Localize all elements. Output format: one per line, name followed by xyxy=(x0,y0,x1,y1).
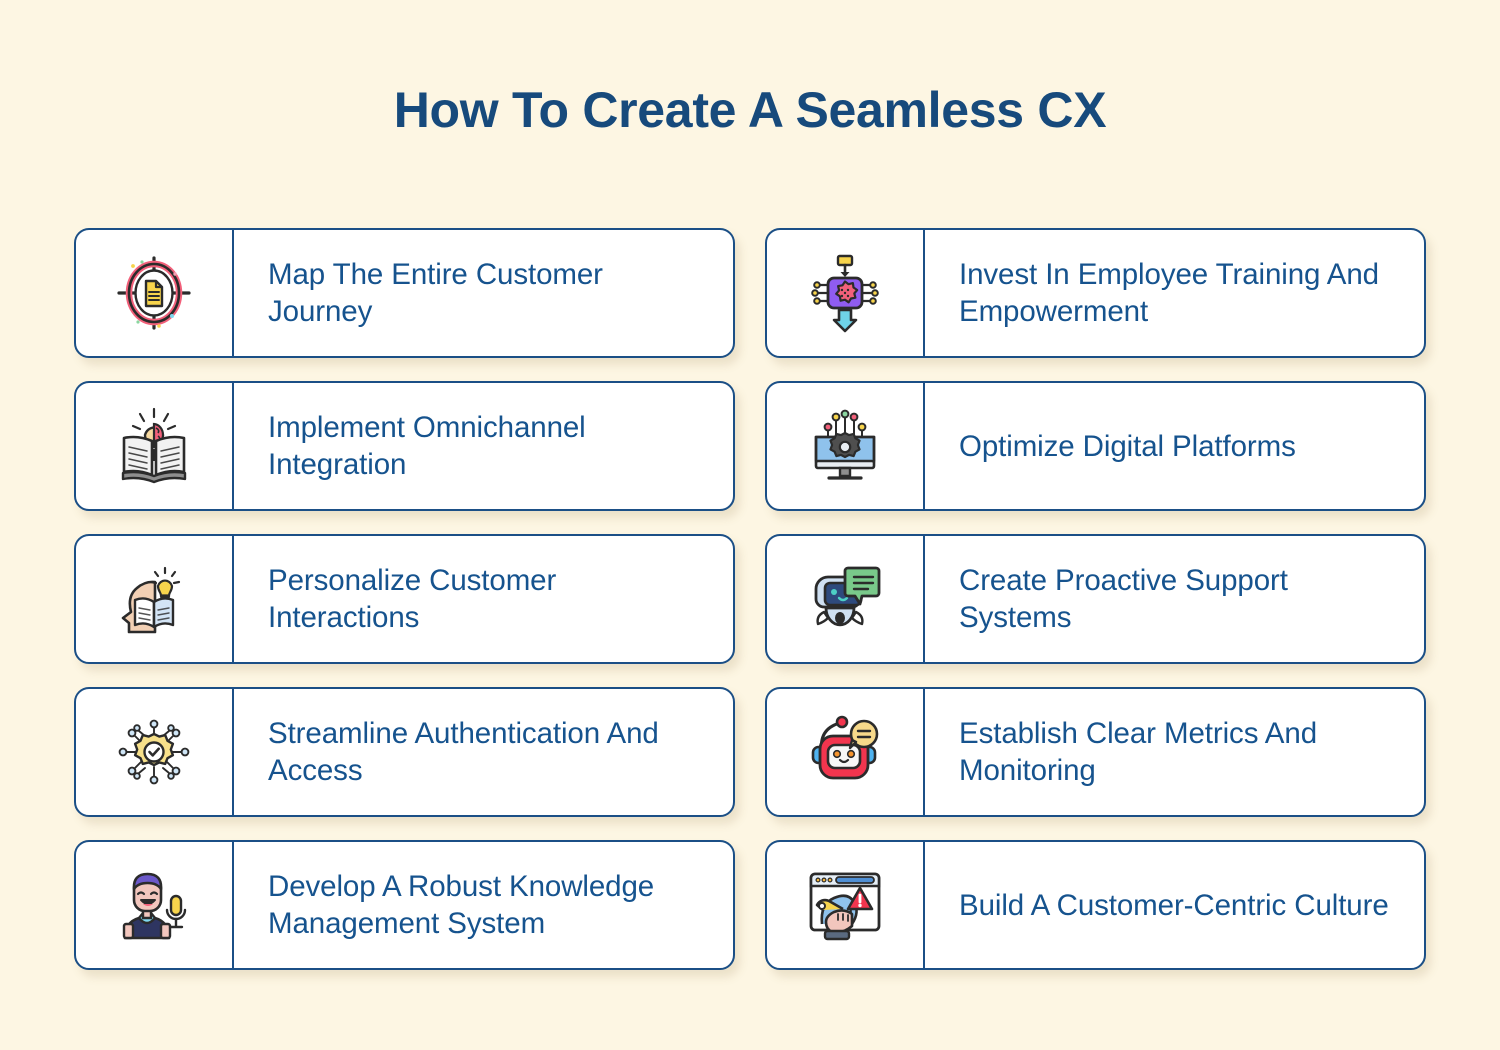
card-label: Establish Clear Metrics And Monitoring xyxy=(959,715,1398,789)
card-develop-a-robust-knowledge-management-system[interactable]: Develop A Robust Knowledge Management Sy… xyxy=(74,840,735,970)
card-label: Streamline Authentication And Access xyxy=(268,715,707,789)
card-invest-in-employee-training-and-empowerment[interactable]: Invest In Employee Training And Empowerm… xyxy=(765,228,1426,358)
card-label: Create Proactive Support Systems xyxy=(959,562,1398,636)
card-text-cell: Develop A Robust Knowledge Management Sy… xyxy=(234,842,733,968)
card-label: Personalize Customer Interactions xyxy=(268,562,707,636)
chatbot-speech-bubble-icon xyxy=(767,536,925,662)
card-text-cell: Build A Customer-Centric Culture xyxy=(925,842,1424,968)
card-label: Build A Customer-Centric Culture xyxy=(959,887,1389,924)
gear-check-network-icon xyxy=(76,689,234,815)
head-book-lightbulb-icon xyxy=(76,536,234,662)
target-document-icon xyxy=(76,230,234,356)
browser-wrench-warning-icon xyxy=(767,842,925,968)
card-build-a-customer-centric-culture[interactable]: Build A Customer-Centric Culture xyxy=(765,840,1426,970)
card-text-cell: Implement Omnichannel Integration xyxy=(234,383,733,509)
card-streamline-authentication-and-access[interactable]: Streamline Authentication And Access xyxy=(74,687,735,817)
card-text-cell: Create Proactive Support Systems xyxy=(925,536,1424,662)
card-label: Invest In Employee Training And Empowerm… xyxy=(959,256,1398,330)
card-implement-omnichannel-integration[interactable]: Implement Omnichannel Integration xyxy=(74,381,735,511)
robot-headset-icon xyxy=(767,689,925,815)
card-create-proactive-support-systems[interactable]: Create Proactive Support Systems xyxy=(765,534,1426,664)
book-lightbulb-brain-icon xyxy=(76,383,234,509)
card-establish-clear-metrics-and-monitoring[interactable]: Establish Clear Metrics And Monitoring xyxy=(765,687,1426,817)
card-text-cell: Map The Entire Customer Journey xyxy=(234,230,733,356)
card-label: Implement Omnichannel Integration xyxy=(268,409,707,483)
monitor-gear-icon xyxy=(767,383,925,509)
card-optimize-digital-platforms[interactable]: Optimize Digital Platforms xyxy=(765,381,1426,511)
card-label: Develop A Robust Knowledge Management Sy… xyxy=(268,868,707,942)
card-label: Map The Entire Customer Journey xyxy=(268,256,707,330)
cards-grid: Map The Entire Customer Journey xyxy=(74,228,1426,970)
microchip-gear-arrows-icon xyxy=(767,230,925,356)
card-personalize-customer-interactions[interactable]: Personalize Customer Interactions xyxy=(74,534,735,664)
card-text-cell: Personalize Customer Interactions xyxy=(234,536,733,662)
page-title: How To Create A Seamless CX xyxy=(0,78,1500,142)
card-text-cell: Invest In Employee Training And Empowerm… xyxy=(925,230,1424,356)
infographic-page: How To Create A Seamless CX xyxy=(0,0,1500,1050)
card-text-cell: Establish Clear Metrics And Monitoring xyxy=(925,689,1424,815)
card-text-cell: Optimize Digital Platforms xyxy=(925,383,1424,509)
card-text-cell: Streamline Authentication And Access xyxy=(234,689,733,815)
person-microphone-icon xyxy=(76,842,234,968)
card-map-the-entire-customer-journey[interactable]: Map The Entire Customer Journey xyxy=(74,228,735,358)
card-label: Optimize Digital Platforms xyxy=(959,428,1296,465)
